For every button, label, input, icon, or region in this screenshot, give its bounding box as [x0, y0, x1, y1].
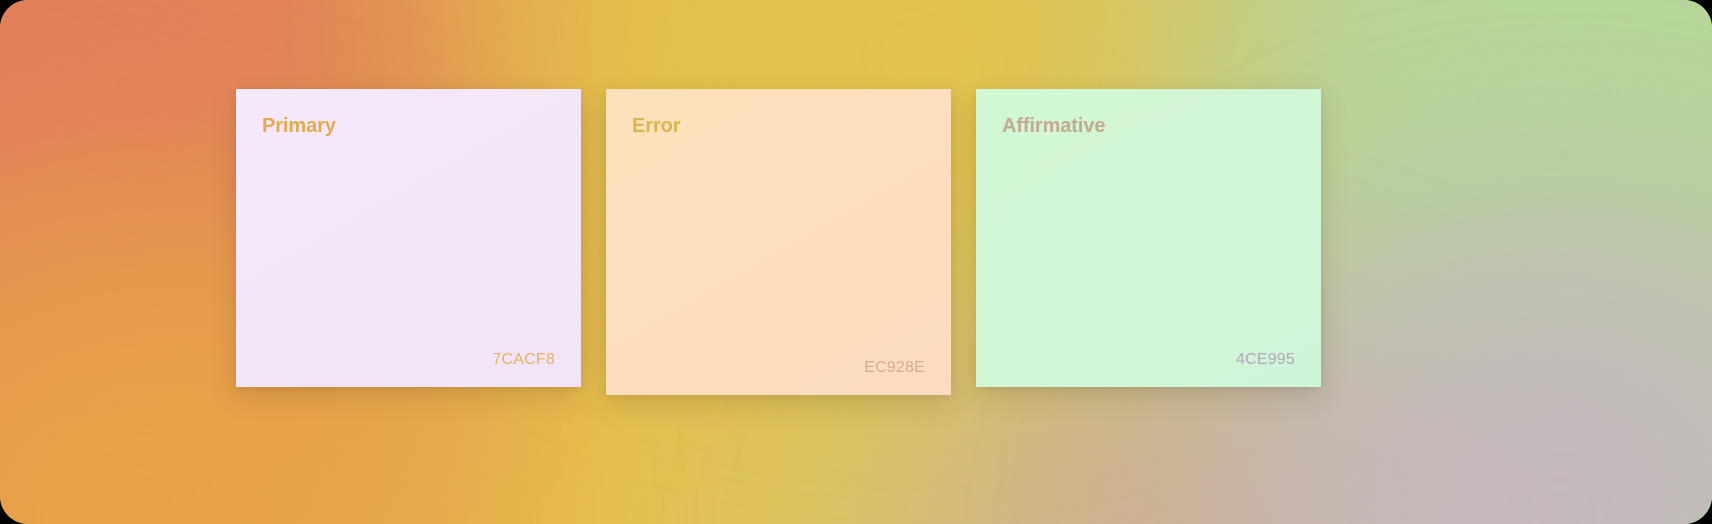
swatch-card-primary[interactable]: Primary 7CACF8	[236, 89, 581, 387]
swatch-hex-primary: 7CACF8	[262, 351, 555, 369]
palette-canvas: Primary 7CACF8 Error EC928E Affirmative …	[0, 0, 1712, 524]
swatch-label-error: Error	[632, 115, 925, 137]
swatch-label-primary: Primary	[262, 115, 555, 137]
swatch-hex-error: EC928E	[632, 359, 925, 377]
swatch-card-affirmative[interactable]: Affirmative 4CE995	[976, 89, 1321, 387]
swatch-card-row: Primary 7CACF8 Error EC928E Affirmative …	[236, 89, 1321, 395]
swatch-card-error[interactable]: Error EC928E	[606, 89, 951, 395]
swatch-hex-affirmative: 4CE995	[1002, 351, 1295, 369]
swatch-label-affirmative: Affirmative	[1002, 115, 1295, 137]
